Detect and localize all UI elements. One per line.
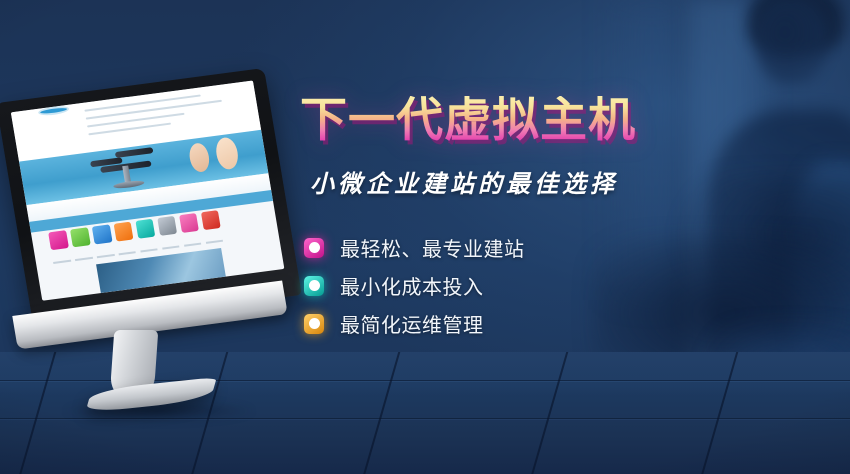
page-subtitle: 小微企业建站的最佳选择 bbox=[310, 164, 720, 199]
app-icon bbox=[179, 213, 199, 233]
app-icon bbox=[70, 227, 90, 247]
feature-label: 最小化成本投入 bbox=[340, 271, 484, 300]
app-label-line bbox=[53, 259, 71, 263]
bullet-dot-icon bbox=[304, 314, 324, 334]
banner-text-block: 下一代虚拟主机 小微企业建站的最佳选择 最轻松、最专业建站 最小化成本投入 最简… bbox=[300, 96, 720, 343]
app-label-line bbox=[162, 245, 180, 249]
website-people-photo bbox=[184, 135, 244, 180]
feature-label: 最简化运维管理 bbox=[340, 309, 484, 338]
bullet-dot-icon bbox=[304, 276, 324, 296]
website-logo-icon bbox=[40, 107, 67, 114]
photo-face bbox=[188, 142, 212, 173]
app-label-line bbox=[97, 254, 115, 258]
hero-blade bbox=[115, 147, 154, 158]
page-title: 下一代虚拟主机 bbox=[300, 96, 720, 146]
app-icon bbox=[157, 216, 177, 236]
photo-face bbox=[214, 136, 241, 170]
app-label-line bbox=[184, 242, 202, 246]
feature-label: 最轻松、最专业建站 bbox=[340, 233, 525, 262]
app-icon bbox=[92, 225, 112, 245]
list-item: 最轻松、最专业建站 bbox=[304, 229, 720, 267]
bullet-dot-icon bbox=[304, 238, 324, 258]
app-label-line bbox=[75, 257, 93, 261]
app-icon bbox=[113, 222, 133, 242]
app-icon bbox=[135, 219, 155, 239]
monitor-screen bbox=[11, 80, 285, 300]
app-icon bbox=[200, 210, 220, 230]
app-label-line bbox=[140, 248, 158, 252]
desktop-monitor bbox=[6, 84, 298, 414]
list-item: 最简化运维管理 bbox=[304, 305, 720, 343]
promo-banner: 下一代虚拟主机 小微企业建站的最佳选择 最轻松、最专业建站 最小化成本投入 最简… bbox=[0, 0, 850, 474]
feature-bullet-list: 最轻松、最专业建站 最小化成本投入 最简化运维管理 bbox=[304, 229, 720, 343]
app-icon bbox=[48, 230, 68, 250]
list-item: 最小化成本投入 bbox=[304, 267, 720, 305]
silhouette-head bbox=[756, 0, 828, 84]
app-label-line bbox=[205, 239, 223, 243]
app-label-line bbox=[118, 251, 136, 255]
